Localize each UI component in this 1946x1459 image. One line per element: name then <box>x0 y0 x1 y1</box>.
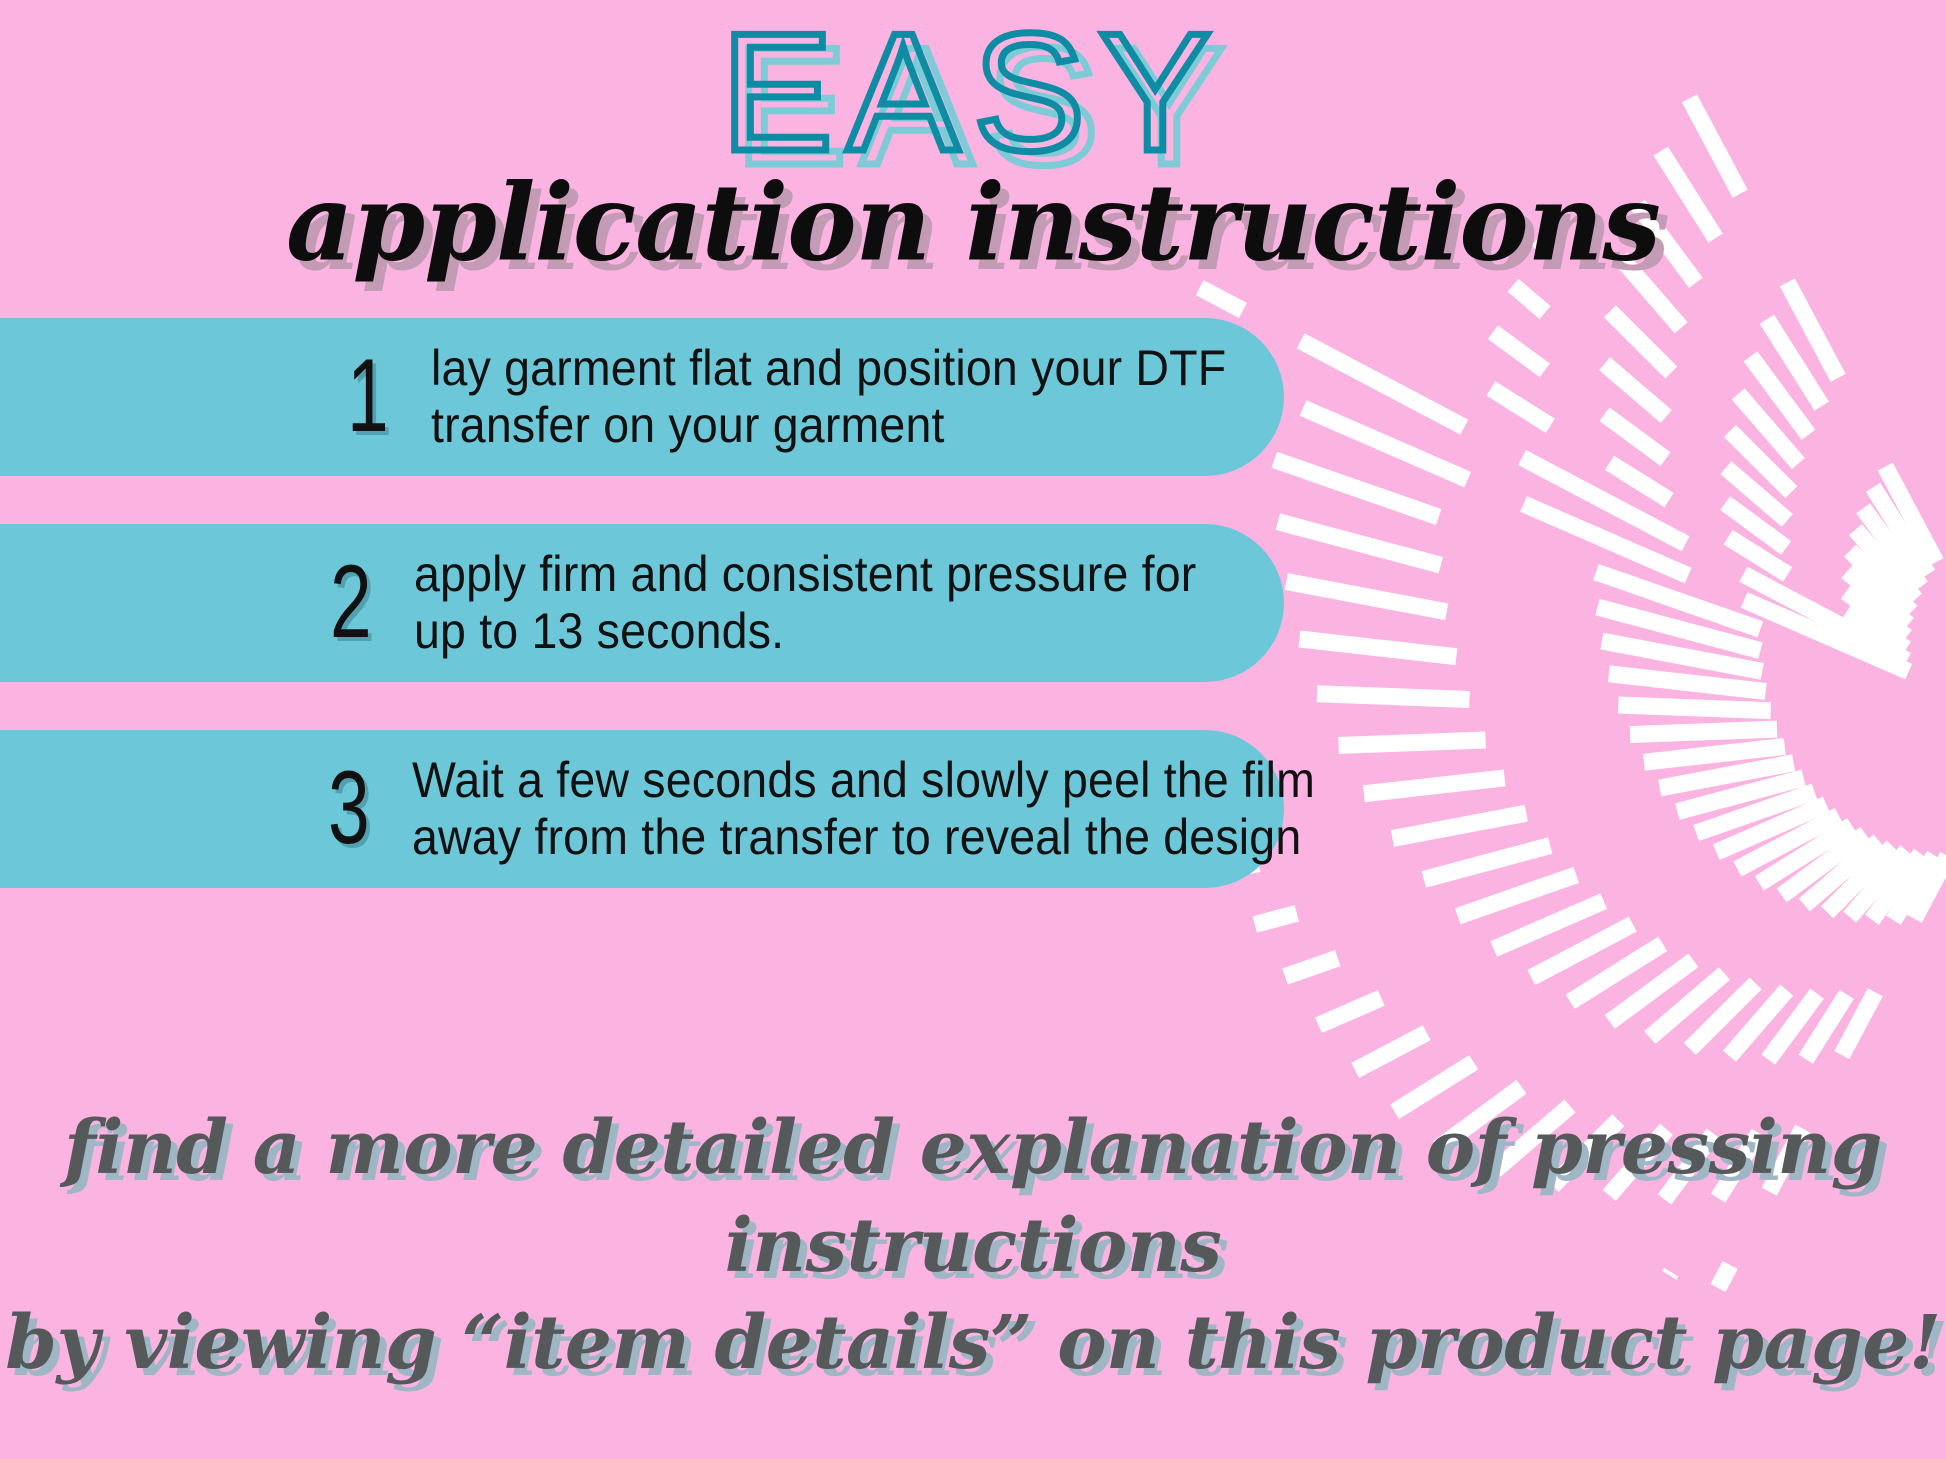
step-text-1: lay garment flat and position your DTF t… <box>431 340 1226 454</box>
step-item-1: 1 lay garment flat and position your DTF… <box>0 318 1284 476</box>
eyebrow-heading-wrap: EASY EASY <box>0 8 1946 176</box>
step-number-3: 3 <box>328 762 373 856</box>
footer-note-line-2: by viewing “item details” on this produc… <box>0 1295 1946 1393</box>
step-text-3: Wait a few seconds and slowly peel the f… <box>412 752 1315 866</box>
page-title-wrap: application instructions <box>0 168 1946 277</box>
eyebrow-heading: EASY EASY <box>721 8 1225 176</box>
step-item-2: 2 apply firm and consistent pressure for… <box>0 524 1284 682</box>
step-number-1: 1 <box>347 350 392 444</box>
step-item-3: 3 Wait a few seconds and slowly peel the… <box>0 730 1284 888</box>
step-text-1-line-2: transfer on your garment <box>431 397 1226 454</box>
step-text-3-line-1: Wait a few seconds and slowly peel the f… <box>412 752 1315 809</box>
footer-note: find a more detailed explanation of pres… <box>0 1100 1946 1393</box>
eyebrow-heading-text: EASY <box>721 8 1225 176</box>
poster-canvas: EASY EASY application instructions 1 lay… <box>0 0 1946 1459</box>
steps-list: 1 lay garment flat and position your DTF… <box>0 318 1946 936</box>
step-text-2-line-2: up to 13 seconds. <box>414 603 1196 660</box>
step-text-3-line-2: away from the transfer to reveal the des… <box>412 809 1315 866</box>
step-text-2: apply firm and consistent pressure for u… <box>414 546 1196 660</box>
step-number-2: 2 <box>330 556 375 650</box>
step-text-1-line-1: lay garment flat and position your DTF <box>431 340 1226 397</box>
footer-note-line-1: find a more detailed explanation of pres… <box>0 1100 1946 1295</box>
page-title: application instructions <box>286 167 1660 278</box>
step-text-2-line-1: apply firm and consistent pressure for <box>414 546 1196 603</box>
